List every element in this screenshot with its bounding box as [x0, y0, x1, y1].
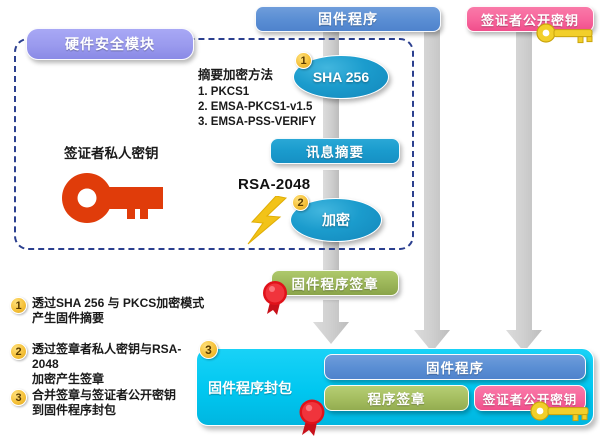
package-firmware-label: 固件程序 [426, 357, 484, 377]
ribbon-seal-icon [258, 278, 294, 316]
legend-item-2: 2 透过签章者私人密钥与RSA-2048 加密产生签章 [6, 342, 206, 387]
legend-item-1-line2: 产生固件摘要 [32, 311, 206, 326]
legend-item-2-line2: 加密产生签章 [32, 372, 206, 387]
package-badge-number: 3 [205, 343, 212, 357]
arrow-signature-to-package [313, 300, 349, 344]
legend-item-3: 3 合并签章与签证者公开密钥 到固件程序封包 [6, 388, 206, 418]
arrow-publickey-to-package [506, 30, 542, 352]
firmware-signature-label: 固件程序签章 [292, 273, 379, 293]
hsm-box[interactable]: 硬件安全模块 [26, 28, 194, 60]
package-program-signature-box[interactable]: 程序签章 [324, 385, 469, 411]
key-icon [534, 20, 600, 46]
encrypt-step-badge: 2 [292, 194, 309, 211]
arrow-firmware-to-package [414, 30, 450, 352]
key-icon [60, 172, 176, 224]
package-program-signature-label: 程序签章 [368, 388, 426, 408]
message-digest-label: 讯息摘要 [306, 141, 364, 161]
rsa-algorithm-label: RSA-2048 [238, 176, 310, 193]
firmware-top-label: 固件程序 [318, 9, 378, 29]
message-digest-box[interactable]: 讯息摘要 [270, 138, 400, 164]
legend-badge-2-number: 2 [15, 346, 21, 358]
legend-item-3-line2: 到固件程序封包 [32, 403, 206, 418]
legend-badge-2: 2 [10, 343, 27, 360]
key-icon [528, 398, 598, 424]
package-label: 固件程序封包 [208, 378, 318, 398]
ribbon-seal-icon [294, 397, 332, 437]
legend-item-1-line1: 透过SHA 256 与 PKCS加密模式 [32, 296, 206, 311]
legend-badge-1: 1 [10, 297, 27, 314]
sha256-step-badge: 1 [295, 52, 312, 69]
sha256-label: SHA 256 [313, 69, 369, 85]
sha256-badge-number: 1 [300, 55, 306, 67]
firmware-top-box[interactable]: 固件程序 [255, 6, 441, 32]
diagram-canvas: 固件程序 签证者公开密钥 硬件安全模块 摘要加密方法 1. PKCS1 2. E… [0, 0, 600, 437]
package-firmware-box[interactable]: 固件程序 [324, 354, 586, 380]
method-item-3: 3. EMSA-PSS-VERIFY [198, 116, 358, 128]
legend-badge-3-number: 3 [15, 392, 21, 404]
hsm-label: 硬件安全模块 [65, 34, 155, 54]
legend-item-1: 1 透过SHA 256 与 PKCS加密模式 产生固件摘要 [6, 296, 206, 326]
private-key-label: 签证者私人密钥 [64, 142, 159, 162]
encrypt-badge-number: 2 [297, 197, 303, 209]
legend-item-3-line1: 合并签章与签证者公开密钥 [32, 388, 206, 403]
legend-item-2-line1: 透过签章者私人密钥与RSA-2048 [32, 342, 206, 372]
legend-badge-3: 3 [10, 389, 27, 406]
legend-badge-1-number: 1 [15, 300, 21, 312]
encrypt-label: 加密 [322, 210, 350, 230]
method-item-2: 2. EMSA-PKCS1-v1.5 [198, 101, 358, 113]
